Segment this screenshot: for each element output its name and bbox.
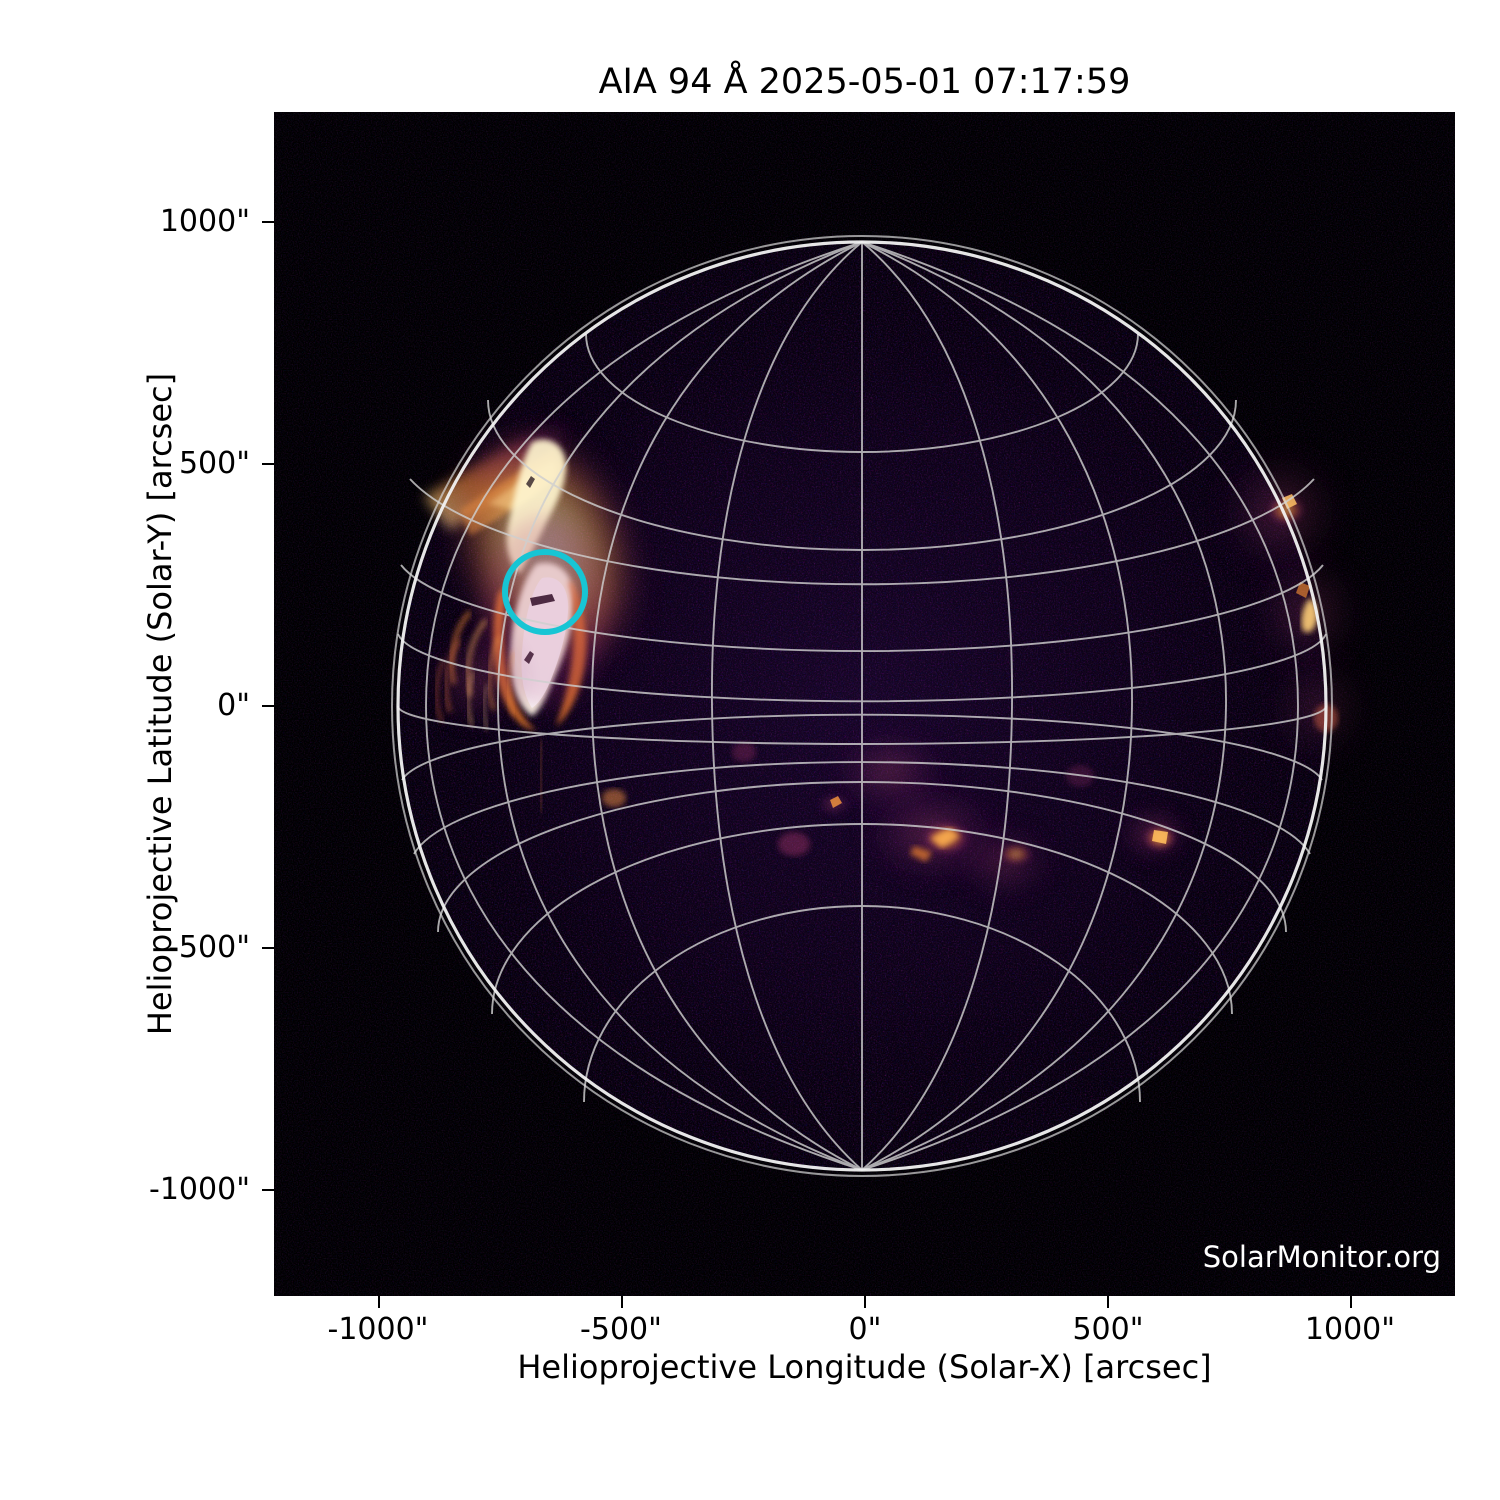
xtick-label-neg500: -500"	[521, 1312, 721, 1347]
ytick-mark-neg500	[262, 947, 274, 949]
solar-image-figure: AIA 94 Å 2025-05-01 07:17:59	[0, 0, 1500, 1500]
solar-image-axes: SolarMonitor.org	[274, 112, 1455, 1296]
xtick-mark-500	[1107, 1296, 1109, 1308]
xtick-mark-neg500	[621, 1296, 623, 1308]
xtick-mark-1000	[1350, 1296, 1352, 1308]
ytick-mark-neg1000	[262, 1189, 274, 1191]
ytick-label-1000: 1000"	[60, 204, 250, 239]
x-axis-label: Helioprojective Longitude (Solar-X) [arc…	[274, 1348, 1455, 1386]
xtick-label-0: 0"	[765, 1312, 965, 1347]
y-axis-label: Helioprojective Latitude (Solar-Y) [arcs…	[141, 373, 179, 1035]
solar-disk-image	[274, 112, 1455, 1296]
xtick-label-500: 500"	[1008, 1312, 1208, 1347]
xtick-mark-neg1000	[378, 1296, 380, 1308]
ytick-label-neg1000: -1000"	[60, 1172, 250, 1207]
ytick-mark-0	[262, 705, 274, 707]
xtick-label-1000: 1000"	[1250, 1312, 1450, 1347]
xtick-mark-0	[864, 1296, 866, 1308]
watermark-label: SolarMonitor.org	[1203, 1240, 1441, 1274]
ytick-mark-1000	[262, 221, 274, 223]
xtick-label-neg1000: -1000"	[278, 1312, 478, 1347]
page-title: AIA 94 Å 2025-05-01 07:17:59	[274, 62, 1455, 102]
ytick-mark-500	[262, 463, 274, 465]
